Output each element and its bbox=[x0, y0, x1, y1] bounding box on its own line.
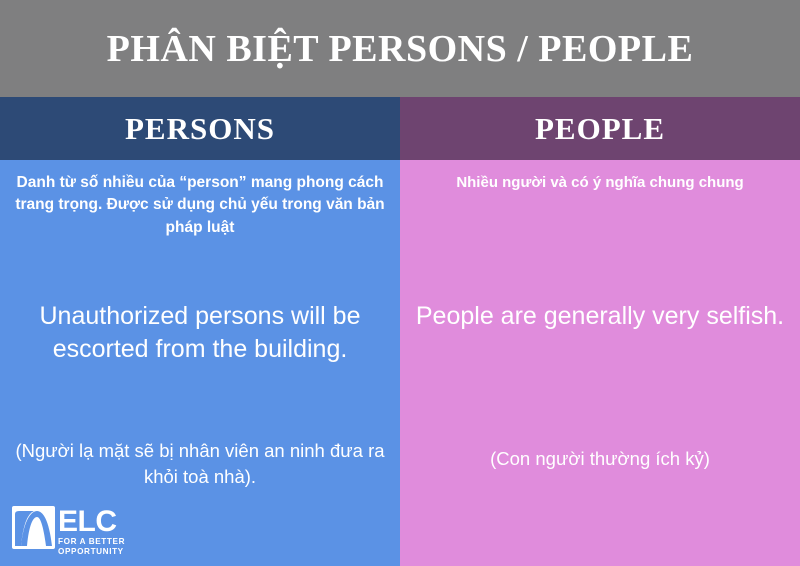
logo-wordmark: ELC bbox=[58, 508, 125, 536]
bridge-icon bbox=[12, 506, 55, 549]
column-body-persons: Danh từ số nhiều của “person” mang phong… bbox=[0, 160, 400, 566]
column-header-persons: PERSONS bbox=[0, 97, 400, 160]
logo-tagline-line2: OPPORTUNITY bbox=[58, 547, 125, 557]
translation-people: (Con người thường ích kỷ) bbox=[414, 446, 786, 472]
column-header-people: PEOPLE bbox=[400, 97, 800, 160]
infographic-root: PHÂN BIỆT PERSONS / PEOPLE PERSONS Danh … bbox=[0, 0, 800, 566]
comparison-columns: PERSONS Danh từ số nhiều của “person” ma… bbox=[0, 97, 800, 566]
definition-people: Nhiều người và có ý nghĩa chung chung bbox=[408, 172, 792, 194]
column-header-label-people: PEOPLE bbox=[535, 113, 665, 144]
title-band: PHÂN BIỆT PERSONS / PEOPLE bbox=[0, 0, 800, 97]
column-body-people: Nhiều người và có ý nghĩa chung chung Pe… bbox=[400, 160, 800, 566]
logo-tagline: FOR A BETTER OPPORTUNITY bbox=[58, 537, 125, 558]
column-persons: PERSONS Danh từ số nhiều của “person” ma… bbox=[0, 97, 400, 566]
example-people: People are generally very selfish. bbox=[410, 300, 790, 333]
column-people: PEOPLE Nhiều người và có ý nghĩa chung c… bbox=[400, 97, 800, 566]
page-title: PHÂN BIỆT PERSONS / PEOPLE bbox=[107, 30, 694, 68]
translation-persons: (Người lạ mặt sẽ bị nhân viên an ninh đư… bbox=[14, 438, 386, 491]
definition-persons: Danh từ số nhiều của “person” mang phong… bbox=[8, 172, 392, 239]
logo-tagline-line1: FOR A BETTER bbox=[58, 537, 125, 547]
logo-text-block: ELC FOR A BETTER OPPORTUNITY bbox=[58, 506, 125, 557]
elc-logo: ELC FOR A BETTER OPPORTUNITY bbox=[12, 506, 125, 558]
example-persons: Unauthorized persons will be escorted fr… bbox=[10, 300, 390, 366]
column-header-label-persons: PERSONS bbox=[125, 113, 275, 144]
